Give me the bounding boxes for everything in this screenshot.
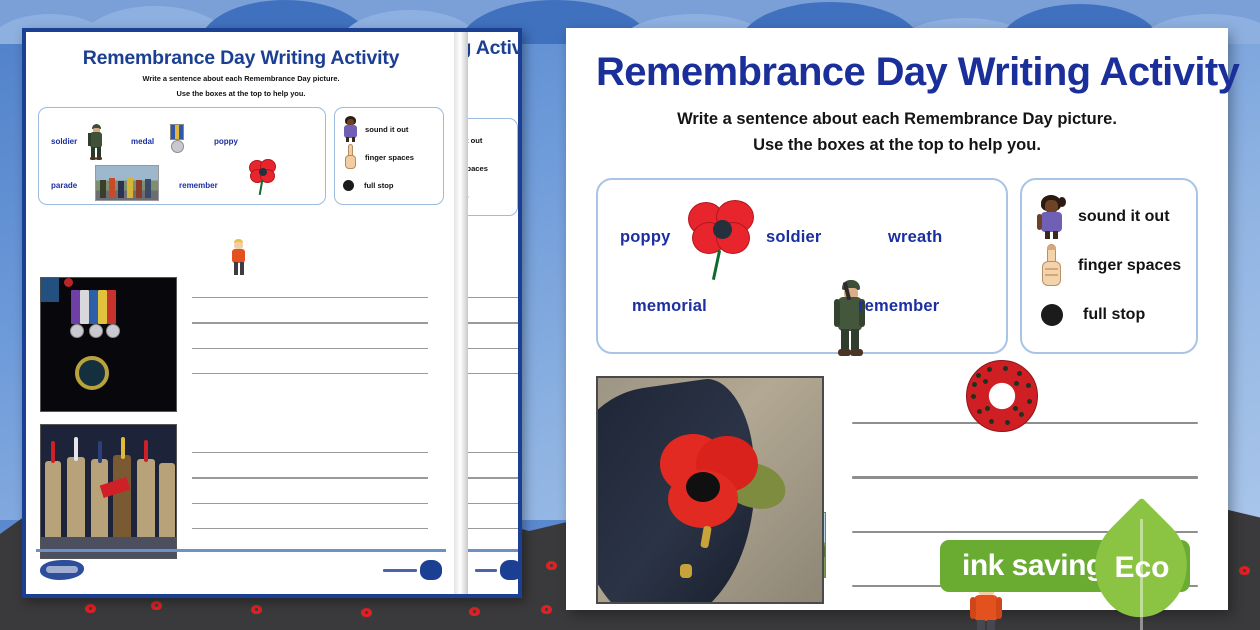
checklist-item-sound-it-out: sound it out — [1032, 195, 1186, 239]
word-remember: remember — [858, 297, 939, 316]
writing-line — [468, 322, 522, 323]
checklist-panel: sound it out finger spaces full stop — [1020, 178, 1198, 354]
booklet-footer-rule — [36, 549, 446, 552]
pointing-finger-icon — [341, 144, 359, 170]
sounding-out-girl-icon — [341, 116, 359, 142]
booklet-word-parade: parade — [51, 181, 77, 190]
visit-twinkl-mark — [475, 560, 522, 580]
booklet-title: Remembrance Day Writing Activity — [38, 47, 444, 70]
eco-pill-label: ink saving — [962, 549, 1104, 583]
booklet-right-checklist-item: full stop — [468, 182, 511, 210]
booklet-checklist-label: full stop — [364, 181, 394, 190]
writing-line — [192, 452, 428, 453]
writing-line — [468, 373, 522, 374]
subtitle-line-1: Write a sentence about each Remembrance … — [596, 107, 1198, 133]
writing-line — [468, 503, 522, 504]
soldier-icon — [833, 280, 867, 358]
sounding-out-girl-icon — [1036, 195, 1066, 239]
booklet-checklist-label: sound it out — [365, 125, 408, 134]
word-wreath: wreath — [888, 228, 942, 247]
poppy-decoration — [545, 560, 558, 571]
booklet-subtitle-line-1: Write a sentence about each Remembrance … — [38, 74, 444, 85]
booklet-word-remember: remember — [179, 181, 218, 190]
parade-icon — [95, 165, 159, 201]
writing-line[interactable] — [852, 476, 1198, 478]
page-title: Remembrance Day Writing Activity — [596, 50, 1198, 95]
wreath-icon — [966, 360, 1038, 432]
subtitle-line-2: Use the boxes at the top to help you. — [596, 133, 1198, 159]
writing-line — [468, 348, 522, 349]
writing-line — [192, 503, 428, 504]
checklist-item-full-stop: full stop — [1032, 293, 1186, 337]
poppy-decoration — [84, 603, 97, 614]
writing-line — [192, 528, 428, 529]
word-soldier: soldier — [766, 228, 822, 247]
writing-line — [468, 477, 522, 478]
poppy-icon — [247, 156, 279, 196]
booklet-checklist-item: sound it out — [341, 115, 437, 143]
checklist-label: sound it out — [1078, 208, 1170, 226]
poppy-decoration — [250, 604, 263, 615]
booklet-right-subtitle: Write a sentence about each Remembrance … — [468, 64, 522, 75]
poppy-decoration — [540, 604, 553, 615]
booklet-panels: soldier medal poppy — [38, 107, 444, 205]
booklet-writing-lines-top — [192, 297, 428, 398]
booklet-right-checklist-item: finger spaces — [468, 154, 511, 182]
full-stop-dot-icon — [1041, 304, 1063, 326]
booklet-right-checklist-label: full stop — [468, 192, 469, 201]
booklet-right-checklist: sound it out finger spaces full stop — [468, 118, 518, 216]
booklet-writing-lines-bottom — [192, 452, 428, 553]
writing-line — [468, 297, 522, 298]
remember-boy-icon — [229, 239, 247, 279]
booklet-word-medal: medal — [131, 137, 154, 146]
visit-twinkl-mark — [383, 560, 442, 580]
writing-line — [192, 348, 428, 349]
eco-leaf-label: Eco — [1106, 551, 1178, 585]
writing-line — [192, 322, 428, 323]
word-memorial: memorial — [632, 297, 707, 316]
booklet-preview[interactable]: Remembrance Day Writing Activity Write a… — [22, 28, 522, 598]
booklet-right-lines-top — [468, 297, 522, 398]
checklist-label: finger spaces — [1078, 257, 1181, 275]
writing-line — [468, 528, 522, 529]
checklist-item-finger-spaces: finger spaces — [1032, 244, 1186, 288]
booklet-right-title: Remembrance Day Writing Activity — [468, 37, 522, 60]
booklet-right-page: Remembrance Day Writing Activity Write a… — [468, 32, 522, 594]
word-poppy: poppy — [620, 228, 671, 247]
booklet-checklist-item: full stop — [341, 171, 437, 199]
booklet-word-soldier: soldier — [51, 137, 77, 146]
helper-panels: poppy soldier — [596, 178, 1198, 354]
booklet-left-page: Remembrance Day Writing Activity Write a… — [26, 32, 456, 594]
writing-line — [192, 297, 428, 298]
booklet-right-checklist-item: sound it out — [468, 126, 511, 154]
poppy-icon — [686, 192, 758, 280]
poppy-on-lapel-photo — [596, 376, 824, 604]
writing-line — [192, 373, 428, 374]
booklet-right-lines-bottom — [468, 452, 522, 553]
booklet-spine — [454, 32, 468, 594]
poppy-decoration — [468, 606, 481, 617]
writing-line — [192, 477, 428, 478]
booklet-word-poppy: poppy — [214, 137, 238, 146]
booklet-subtitle-line-2: Use the boxes at the top to help you. — [38, 89, 444, 100]
military-parade-photo — [40, 424, 177, 559]
booklet-checklist: sound it out finger spaces full stop — [334, 107, 444, 205]
poppy-decoration — [150, 600, 163, 611]
word-bank-panel: poppy soldier — [596, 178, 1008, 354]
medals-on-uniform-photo — [40, 277, 177, 412]
twinkl-logo — [40, 560, 84, 580]
booklet-right-checklist-label: finger spaces — [468, 164, 488, 173]
booklet-word-bank: soldier medal poppy — [38, 107, 326, 205]
booklet-checklist-label: finger spaces — [365, 153, 414, 162]
booklet-right-checklist-label: sound it out — [468, 136, 482, 145]
full-stop-dot-icon — [343, 180, 354, 191]
medal-icon — [167, 124, 187, 160]
writing-line — [468, 452, 522, 453]
booklet-right-footer-rule — [468, 549, 520, 552]
pointing-finger-icon — [1036, 244, 1066, 288]
soldier-icon — [87, 124, 105, 160]
booklet-checklist-item: finger spaces — [341, 143, 437, 171]
checklist-label: full stop — [1083, 306, 1145, 324]
poppy-decoration — [360, 607, 373, 618]
poppy-decoration — [1238, 565, 1251, 576]
